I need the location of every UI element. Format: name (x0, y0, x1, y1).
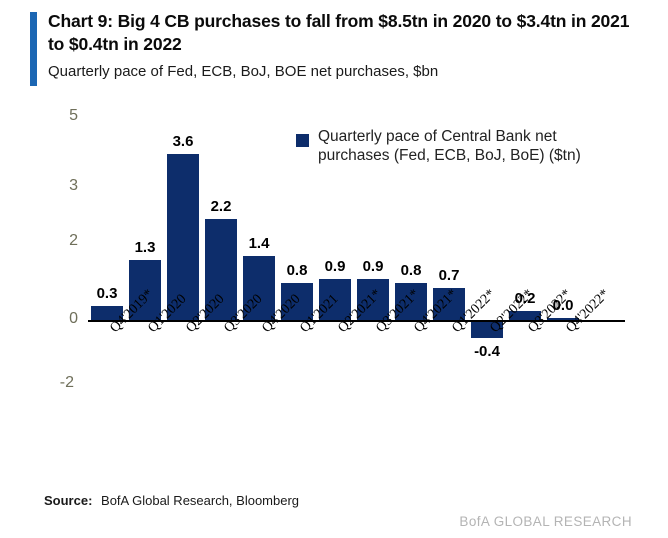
legend-label: Quarterly pace of Central Bank net purch… (318, 128, 618, 166)
brand-watermark: BofA GLOBAL RESEARCH (459, 514, 632, 529)
y-axis-tick-0: 0 (44, 311, 78, 327)
y-axis-tick-3: 3 (44, 178, 78, 194)
source-text: BofA Global Research, Bloomberg (101, 493, 299, 508)
y-axis-tick-5: 5 (44, 108, 78, 124)
source-note: Source: BofA Global Research, Bloomberg (44, 493, 299, 508)
y-axis-tick-neg2: -2 (40, 375, 74, 391)
x-axis-labels: Q4'2019*Q1'2020Q2'2020Q3'2020Q4'2020Q1'2… (88, 326, 648, 446)
bar-value-label: 0.3 (82, 286, 132, 301)
chart-plot-area: 5 3 2 0 -2 0.31.33.62.21.40.80.90.90.80.… (0, 0, 668, 538)
bar-value-label: 1.4 (234, 236, 284, 251)
bar-value-label: 2.2 (196, 199, 246, 214)
bar-value-label: 0.7 (424, 268, 474, 283)
source-label: Source: (44, 493, 92, 508)
bar-value-label: 3.6 (158, 134, 208, 149)
legend-swatch-icon (296, 134, 309, 147)
bar-slot: 0.3 (88, 110, 126, 340)
chart-sheet: Chart 9: Big 4 CB purchases to fall from… (0, 0, 668, 538)
y-axis-tick-2: 2 (44, 233, 78, 249)
bar-value-label: 1.3 (120, 240, 170, 255)
